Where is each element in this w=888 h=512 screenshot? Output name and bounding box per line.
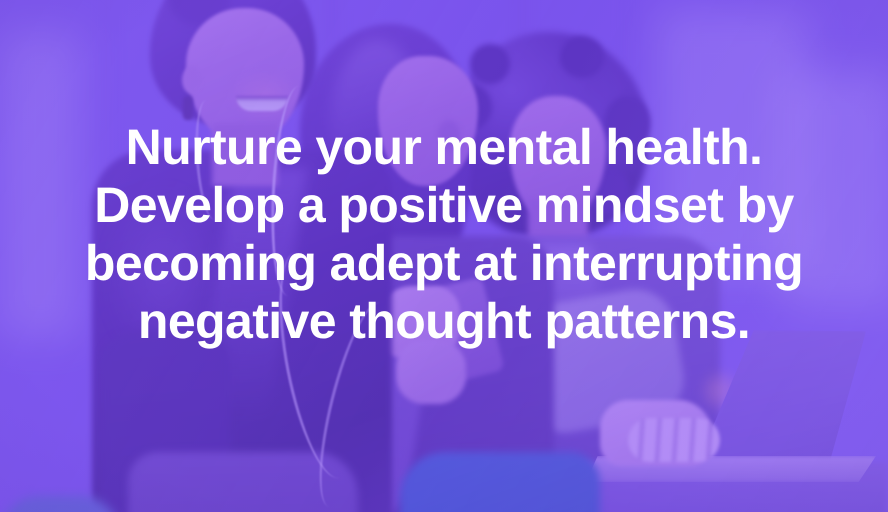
- headline-line-3: becoming adept at interrupting: [0, 234, 888, 292]
- headline-line-1: Nurture your mental health.: [0, 118, 888, 176]
- headline-line-2: Develop a positive mindset by: [0, 176, 888, 234]
- quote-headline: Nurture your mental health. Develop a po…: [0, 118, 888, 350]
- headline-line-4: negative thought patterns.: [0, 292, 888, 350]
- quote-graphic: Nurture your mental health. Develop a po…: [0, 0, 888, 512]
